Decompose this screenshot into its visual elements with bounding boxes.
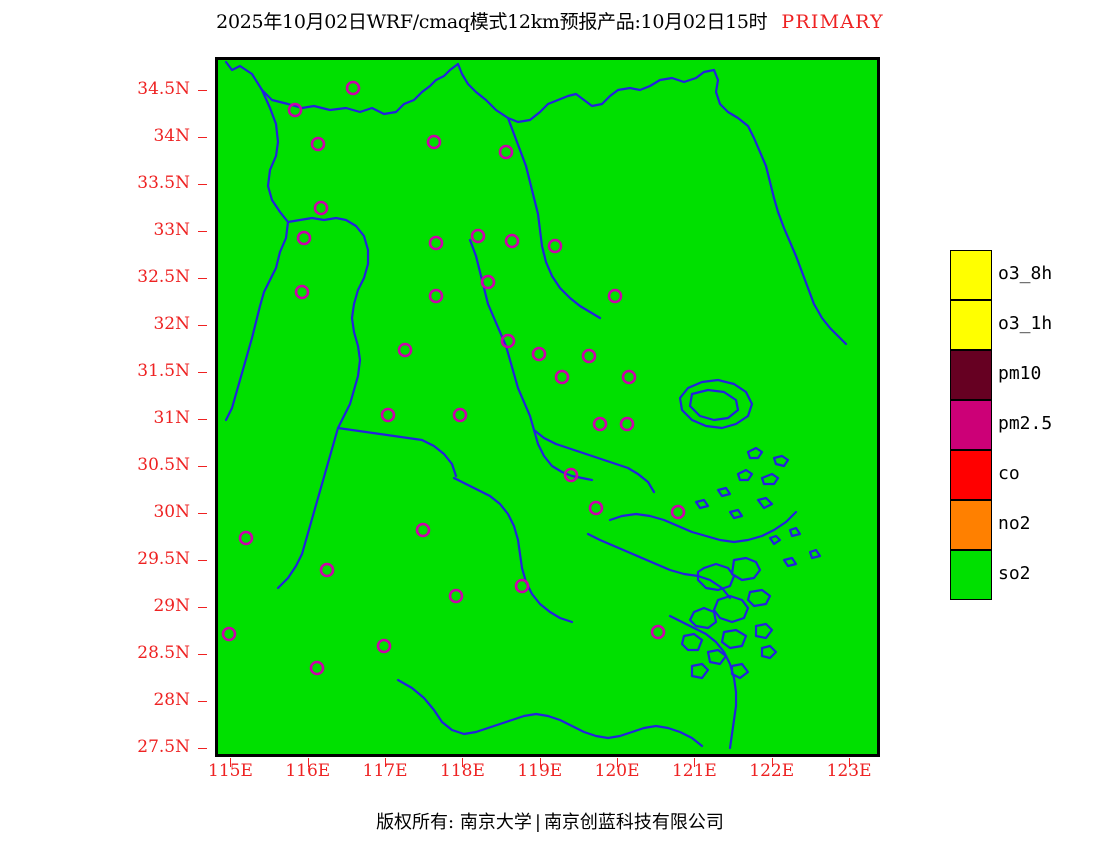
footer-separator: | bbox=[535, 812, 541, 833]
legend-item-pm2-5[interactable]: pm2.5 bbox=[950, 400, 1094, 450]
legend-item-label: no2 bbox=[998, 514, 1031, 534]
legend-color-swatch bbox=[950, 550, 992, 600]
legend-color-swatch bbox=[950, 400, 992, 450]
footer-left: 版权所有: 南京大学 bbox=[376, 812, 532, 833]
legend-item-label: so2 bbox=[998, 564, 1031, 584]
legend-color-swatch bbox=[950, 350, 992, 400]
forecast-map-page: 2025年10月02日WRF/cmaq模式12km预报产品:10月02日15时P… bbox=[0, 0, 1100, 850]
legend-item-label: pm2.5 bbox=[998, 414, 1052, 434]
x-axis-tick-mark bbox=[694, 758, 695, 767]
x-axis-tick-mark bbox=[849, 758, 850, 767]
x-axis: 115E116E117E118E119E120E121E122E123E bbox=[0, 0, 1100, 850]
x-axis-tick-mark bbox=[772, 758, 773, 767]
legend-color-swatch bbox=[950, 300, 992, 350]
copyright-footer: 版权所有: 南京大学|南京创蓝科技有限公司 bbox=[0, 808, 1100, 834]
legend-item-pm10[interactable]: pm10 bbox=[950, 350, 1094, 400]
legend-item-label: pm10 bbox=[998, 364, 1041, 384]
x-axis-tick-mark bbox=[462, 758, 463, 767]
legend-color-swatch bbox=[950, 500, 992, 550]
legend-item-co[interactable]: co bbox=[950, 450, 1094, 500]
legend-item-so2[interactable]: so2 bbox=[950, 550, 1094, 600]
x-axis-tick-mark bbox=[385, 758, 386, 767]
footer-right: 南京创蓝科技有限公司 bbox=[544, 812, 724, 833]
legend-item-label: o3_8h bbox=[998, 264, 1052, 284]
x-axis-tick-mark bbox=[308, 758, 309, 767]
legend-item-label: o3_1h bbox=[998, 314, 1052, 334]
legend-item-label: co bbox=[998, 464, 1020, 484]
x-axis-tick-mark bbox=[540, 758, 541, 767]
x-axis-tick-mark bbox=[230, 758, 231, 767]
legend-color-swatch bbox=[950, 450, 992, 500]
x-axis-tick-mark bbox=[617, 758, 618, 767]
pollutant-legend: o3_8ho3_1hpm10pm2.5cono2so2 bbox=[950, 250, 1094, 600]
legend-item-no2[interactable]: no2 bbox=[950, 500, 1094, 550]
legend-item-o3-1h[interactable]: o3_1h bbox=[950, 300, 1094, 350]
legend-color-swatch bbox=[950, 250, 992, 300]
legend-item-o3-8h[interactable]: o3_8h bbox=[950, 250, 1094, 300]
